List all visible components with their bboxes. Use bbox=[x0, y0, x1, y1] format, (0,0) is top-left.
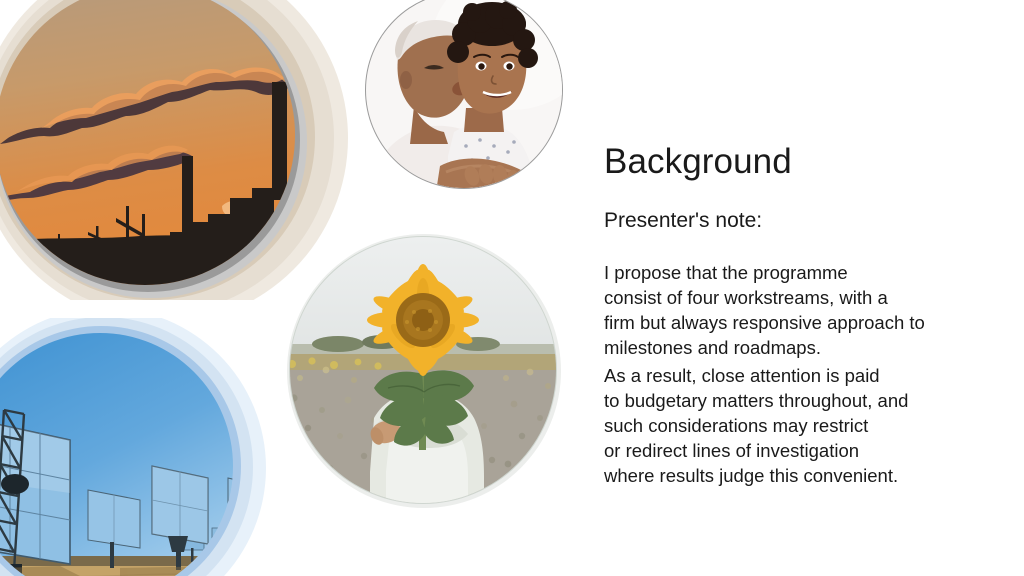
text-content-area: Background Presenter's note: I propose t… bbox=[604, 0, 1004, 576]
page-title: Background bbox=[604, 143, 792, 182]
presenter-note-label: Presenter's note: bbox=[604, 208, 762, 233]
mother-child-image-content bbox=[362, 0, 577, 205]
body-line: milestones and roadmaps. bbox=[604, 335, 1004, 360]
image-collage bbox=[0, 0, 580, 576]
chimney-tall bbox=[272, 82, 287, 200]
tracker-box bbox=[1, 474, 29, 494]
body-line: such considerations may restrict bbox=[604, 413, 1004, 438]
mother-and-child-photo bbox=[362, 0, 577, 205]
body-line: As a result, close attention is paid bbox=[604, 363, 1004, 388]
sunflower-image-content bbox=[278, 228, 568, 518]
body-line: to budgetary matters throughout, and bbox=[604, 388, 1004, 413]
body-line: consist of four workstreams, with a bbox=[604, 285, 1004, 310]
body-line: firm but always responsive approach to bbox=[604, 310, 1004, 335]
sunflower-field-photo bbox=[278, 228, 568, 518]
presentation-slide: Background Presenter's note: I propose t… bbox=[0, 0, 1024, 576]
body-paragraph-1: I propose that the programme consist of … bbox=[604, 260, 1004, 360]
solar-mirrors-photo bbox=[0, 318, 295, 576]
body-line: where results judge this convenient. bbox=[604, 463, 1004, 488]
body-line: or redirect lines of investigation bbox=[604, 438, 1004, 463]
body-paragraph-2: As a result, close attention is paid to … bbox=[604, 363, 1004, 488]
body-line: I propose that the programme bbox=[604, 260, 1004, 285]
